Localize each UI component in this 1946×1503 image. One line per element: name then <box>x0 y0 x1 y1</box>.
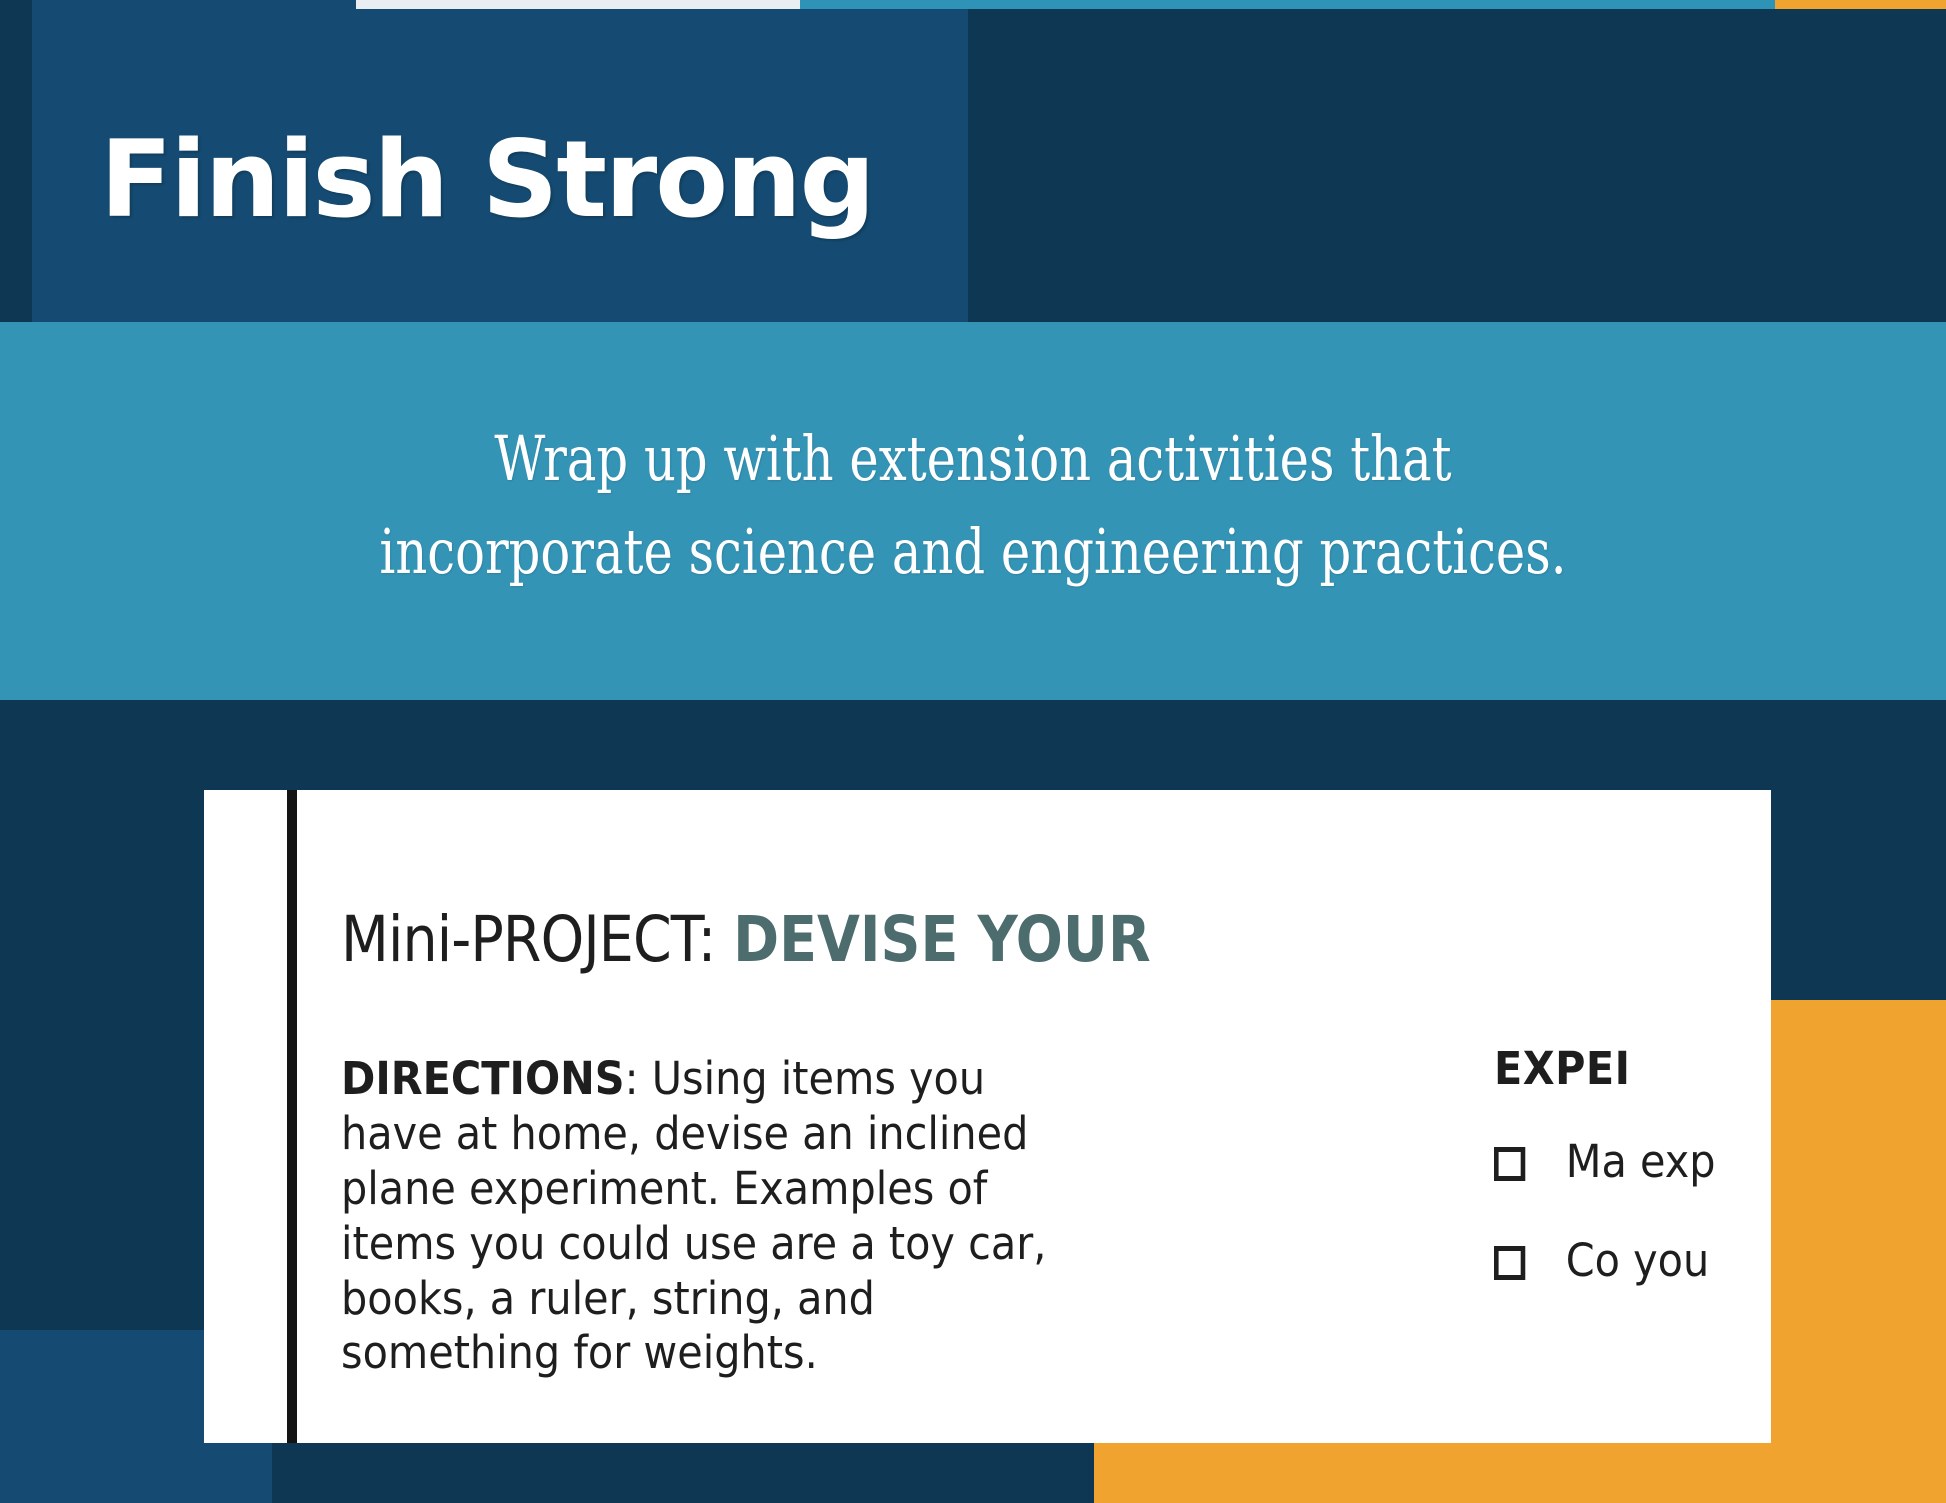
subtitle-line-2: incorporate science and engineering prac… <box>195 505 1752 598</box>
bottom-orange-block <box>1094 1443 1946 1503</box>
checkbox-icon[interactable] <box>1494 1147 1525 1181</box>
worksheet-image-card: Mini-PROJECT: DEVISE YOUR DIRECTIONS: Us… <box>204 790 1771 1443</box>
top-rule-teal <box>800 0 1775 9</box>
right-orange-block <box>1771 1000 1946 1503</box>
worksheet-left-rule <box>287 790 297 1443</box>
top-rule-white <box>356 0 800 9</box>
expectation-item: Ma exp <box>1494 1135 1771 1190</box>
checkbox-icon[interactable] <box>1494 1246 1525 1280</box>
subtitle-line-1: Wrap up with extension activities that <box>195 412 1752 505</box>
worksheet-directions-column: DIRECTIONS: Using items you have at home… <box>341 1052 1095 1381</box>
bottom-navy-block <box>272 1443 1094 1503</box>
page-title: Finish Strong <box>100 127 873 233</box>
expectation-text: Co you <box>1566 1234 1771 1289</box>
worksheet-content: Mini-PROJECT: DEVISE YOUR DIRECTIONS: Us… <box>337 790 1771 1443</box>
worksheet-heading-accent: DEVISE YOUR <box>733 903 1151 976</box>
directions-label: DIRECTIONS <box>341 1052 625 1105</box>
expectations-title: EXPEI <box>1494 1046 1771 1091</box>
top-rule-orange <box>1775 0 1946 9</box>
expectation-text: Ma exp <box>1566 1135 1771 1190</box>
worksheet-expectations-column: EXPEI Ma exp Co you <box>1494 1046 1771 1289</box>
background-left-navy-strip <box>0 0 32 322</box>
slide-canvas: Finish Strong Wrap up with extension act… <box>0 0 1946 1503</box>
worksheet-heading-plain: Mini-PROJECT: <box>341 903 715 976</box>
worksheet-heading: Mini-PROJECT: DEVISE YOUR <box>341 908 1151 971</box>
title-block: Finish Strong <box>32 9 968 368</box>
page-subtitle: Wrap up with extension activities that i… <box>195 412 1752 598</box>
expectation-item: Co you <box>1494 1234 1771 1289</box>
